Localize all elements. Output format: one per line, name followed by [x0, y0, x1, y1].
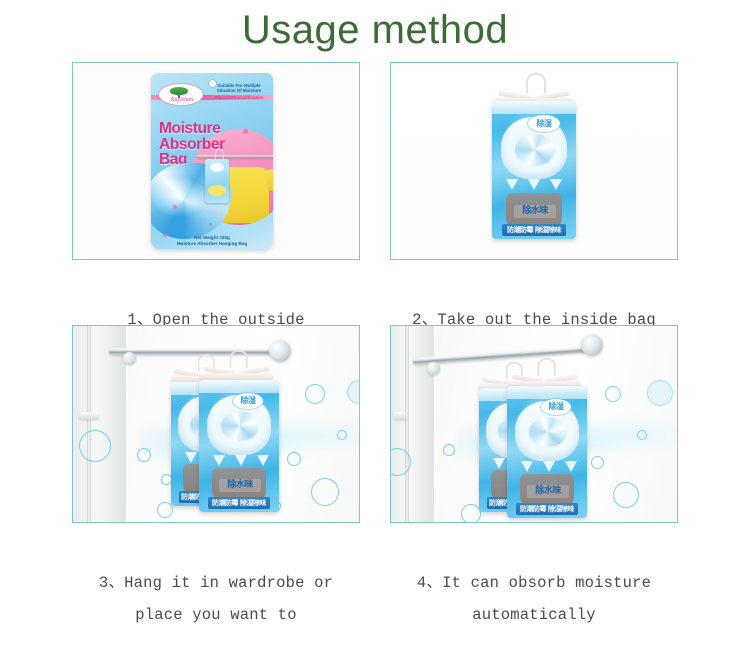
wardrobe-door [73, 326, 126, 522]
bag-panel-label: 除水味 [527, 485, 569, 498]
bag-top-strip [492, 101, 576, 114]
inset-mini-bag [205, 159, 229, 203]
bag-bottom-banner: 防潮防霉 除湿除味 [208, 497, 270, 509]
bubble-decor [647, 380, 673, 406]
hanging-in-wardrobe-photo: 防潮防霉 除湿除味 除湿 [72, 325, 360, 523]
bag-oval-label-text: 除湿 [233, 393, 263, 409]
bubble-decor [637, 430, 647, 440]
package-headline: Moisture Absorber Bag [159, 121, 243, 168]
footer-line-2: Moisture Absorber Hanging Bag [151, 241, 273, 247]
bag-top-strip [199, 380, 279, 393]
package-claims: Suitable For Multiple Situation Of Moist… [209, 83, 269, 101]
steps-grid: Ruyishun Suitable For Multiple Situation… [0, 62, 750, 592]
bag-top-strip [507, 386, 587, 399]
door-edge [87, 326, 91, 522]
hanger-hook-icon [526, 73, 546, 93]
claim-line-3: Rapid Dehumidification [209, 95, 269, 100]
headline-line-1: Moisture [159, 121, 243, 137]
pouch-scene: Ruyishun Suitable For Multiple Situation… [73, 63, 359, 259]
bag-bottom-banner: 防潮防霉 除湿除味 [516, 503, 578, 515]
step-caption-4: 4、It can obsorb moisture automatically [390, 535, 678, 663]
caption-line-2: place you want to [72, 599, 360, 631]
package-footer: Net Weight 230g Moisture Absorber Hangin… [151, 235, 273, 247]
bag-swirl-graphic [221, 411, 259, 441]
page-title: Usage method [0, 6, 750, 54]
bag-swirl-graphic [515, 134, 555, 166]
hanger-icon [201, 350, 273, 381]
door-handle [79, 412, 99, 420]
claim-line-2: Situation Of Moisture [209, 88, 269, 93]
bag-swirl-graphic [529, 417, 567, 447]
rail-end-cap [581, 334, 603, 356]
bubble-decor [591, 456, 604, 469]
bag-bottom-banner: 防潮防霉 除湿除味 [502, 224, 566, 236]
wardrobe-door [391, 326, 434, 522]
hanger-hook-icon [538, 358, 556, 376]
absorbing-moisture-photo: 防潮防霉 除湿除味 除湿 [390, 325, 678, 523]
inset-mini-bag-label [208, 185, 226, 196]
bubble-decor [157, 502, 173, 518]
bag-oval-label: 除湿 [528, 115, 560, 132]
step-item-3: 防潮防霉 除湿除味 除湿 [72, 325, 360, 663]
inner-bag-photo: 除湿 除水味 防潮防霉 除湿除味 [390, 62, 678, 260]
single-bag-scene: 除湿 除水味 防潮防霉 除湿除味 [391, 63, 677, 259]
wardrobe-scene-3: 防潮防霉 除湿除味 除湿 [73, 326, 359, 522]
inset-hanger-hook-icon [215, 149, 224, 162]
decor-dot [173, 205, 177, 209]
rail-bracket [123, 352, 136, 365]
bubble-decor [443, 444, 455, 456]
bubble-decor [287, 452, 301, 466]
caption-line-2: automatically [390, 599, 678, 631]
bubble-decor [79, 430, 111, 462]
wardrobe-scene-4: 防潮防霉 除湿除味 除湿 [391, 326, 677, 522]
inset-mini-bag-oval [210, 163, 224, 172]
headline-line-2: Absorber [159, 137, 243, 153]
hanger-hook-icon [230, 350, 248, 368]
bubble-decor [137, 448, 151, 462]
bubble-decor [305, 384, 325, 404]
inner-hanging-bag: 除湿 除水味 防潮防霉 除湿除味 [507, 386, 587, 518]
retail-pouch-photo: Ruyishun Suitable For Multiple Situation… [72, 62, 360, 260]
step-item-2: 除湿 除水味 防潮防霉 除湿除味 2、Take out the inside b… [390, 62, 678, 368]
bubble-decor [337, 430, 347, 440]
rail-bracket [427, 362, 440, 375]
bag-panel-label: 除水味 [514, 205, 556, 218]
door-edge [405, 326, 409, 522]
bubble-decor [311, 478, 339, 506]
caption-line-1: 4、It can obsorb moisture [417, 574, 651, 592]
decor-dot [243, 129, 248, 134]
retail-pouch: Ruyishun Suitable For Multiple Situation… [151, 73, 273, 249]
bag-oval-label-text: 除湿 [528, 115, 560, 132]
bag-oval-label: 除湿 [233, 393, 263, 409]
brand-name: Ruyishun [164, 97, 200, 104]
inner-hanging-bag: 除湿 除水味 防潮防霉 除湿除味 [492, 101, 576, 239]
bag-panel-label: 除水味 [219, 479, 261, 492]
hanger-icon [509, 358, 581, 389]
bubble-decor [347, 380, 359, 404]
brand-logo: Ruyishun [159, 84, 203, 105]
door-handle [393, 412, 407, 420]
inner-hanging-bag: 除湿 除水味 防潮防霉 除湿除味 [199, 380, 279, 512]
bubble-decor [461, 504, 481, 522]
decor-dot [209, 223, 212, 226]
bag-oval-label-text: 除湿 [541, 399, 571, 415]
usage-method-page: Usage method Ruyishun Suitable F [0, 0, 750, 593]
bubble-decor [605, 386, 621, 402]
bubble-decor [613, 482, 639, 508]
step-caption-3: 3、Hang it in wardrobe or place you want … [72, 535, 360, 663]
bag-oval-label: 除湿 [541, 399, 571, 415]
step-item-4: 防潮防霉 除湿除味 除湿 [390, 325, 678, 663]
caption-line-1: 3、Hang it in wardrobe or [99, 574, 333, 592]
